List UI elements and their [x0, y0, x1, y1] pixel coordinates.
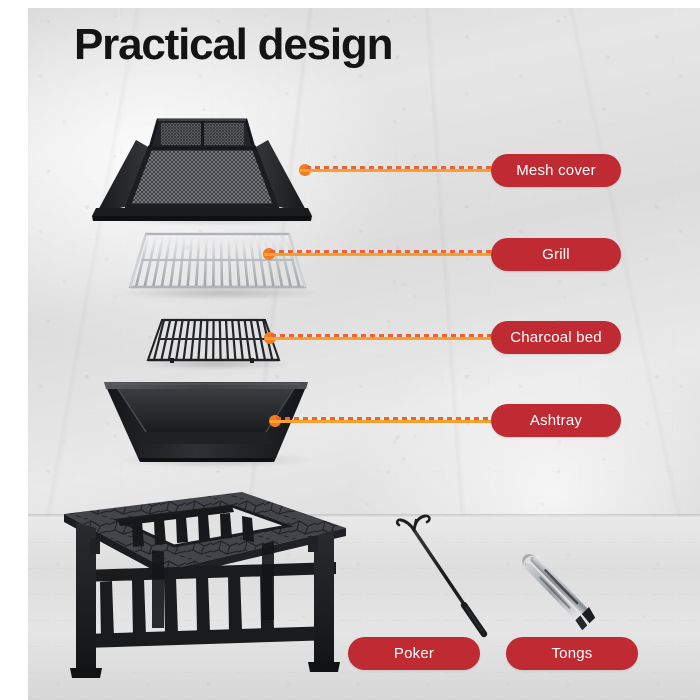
connector-line-solid: [264, 253, 500, 256]
label-grill[interactable]: Grill: [491, 238, 621, 271]
product-infographic: Practical design: [0, 0, 700, 700]
part-poker: [392, 510, 502, 640]
connector-mesh-cover: [300, 165, 500, 175]
part-fire-pit-table: [56, 478, 356, 678]
connector-line-dashed: [271, 334, 500, 337]
connector-line-dashed: [306, 166, 500, 169]
label-mesh-cover[interactable]: Mesh cover: [491, 154, 621, 187]
label-charcoal-bed[interactable]: Charcoal bed: [491, 321, 621, 354]
label-poker[interactable]: Poker: [348, 637, 480, 670]
page-title: Practical design: [74, 20, 392, 71]
connector-ashtray: [270, 416, 500, 426]
part-tongs: [508, 548, 614, 634]
label-tongs[interactable]: Tongs: [506, 637, 638, 670]
connector-grill: [264, 249, 500, 259]
connector-line-solid: [265, 337, 500, 340]
part-grill: [108, 226, 330, 298]
connector-line-dashed: [270, 250, 500, 253]
connector-charcoal-bed: [265, 333, 500, 343]
label-ashtray[interactable]: Ashtray: [491, 404, 621, 437]
part-mesh-cover: [82, 104, 322, 222]
connector-line-dashed: [276, 417, 500, 420]
connector-line-solid: [300, 169, 500, 172]
connector-line-solid: [270, 420, 500, 423]
